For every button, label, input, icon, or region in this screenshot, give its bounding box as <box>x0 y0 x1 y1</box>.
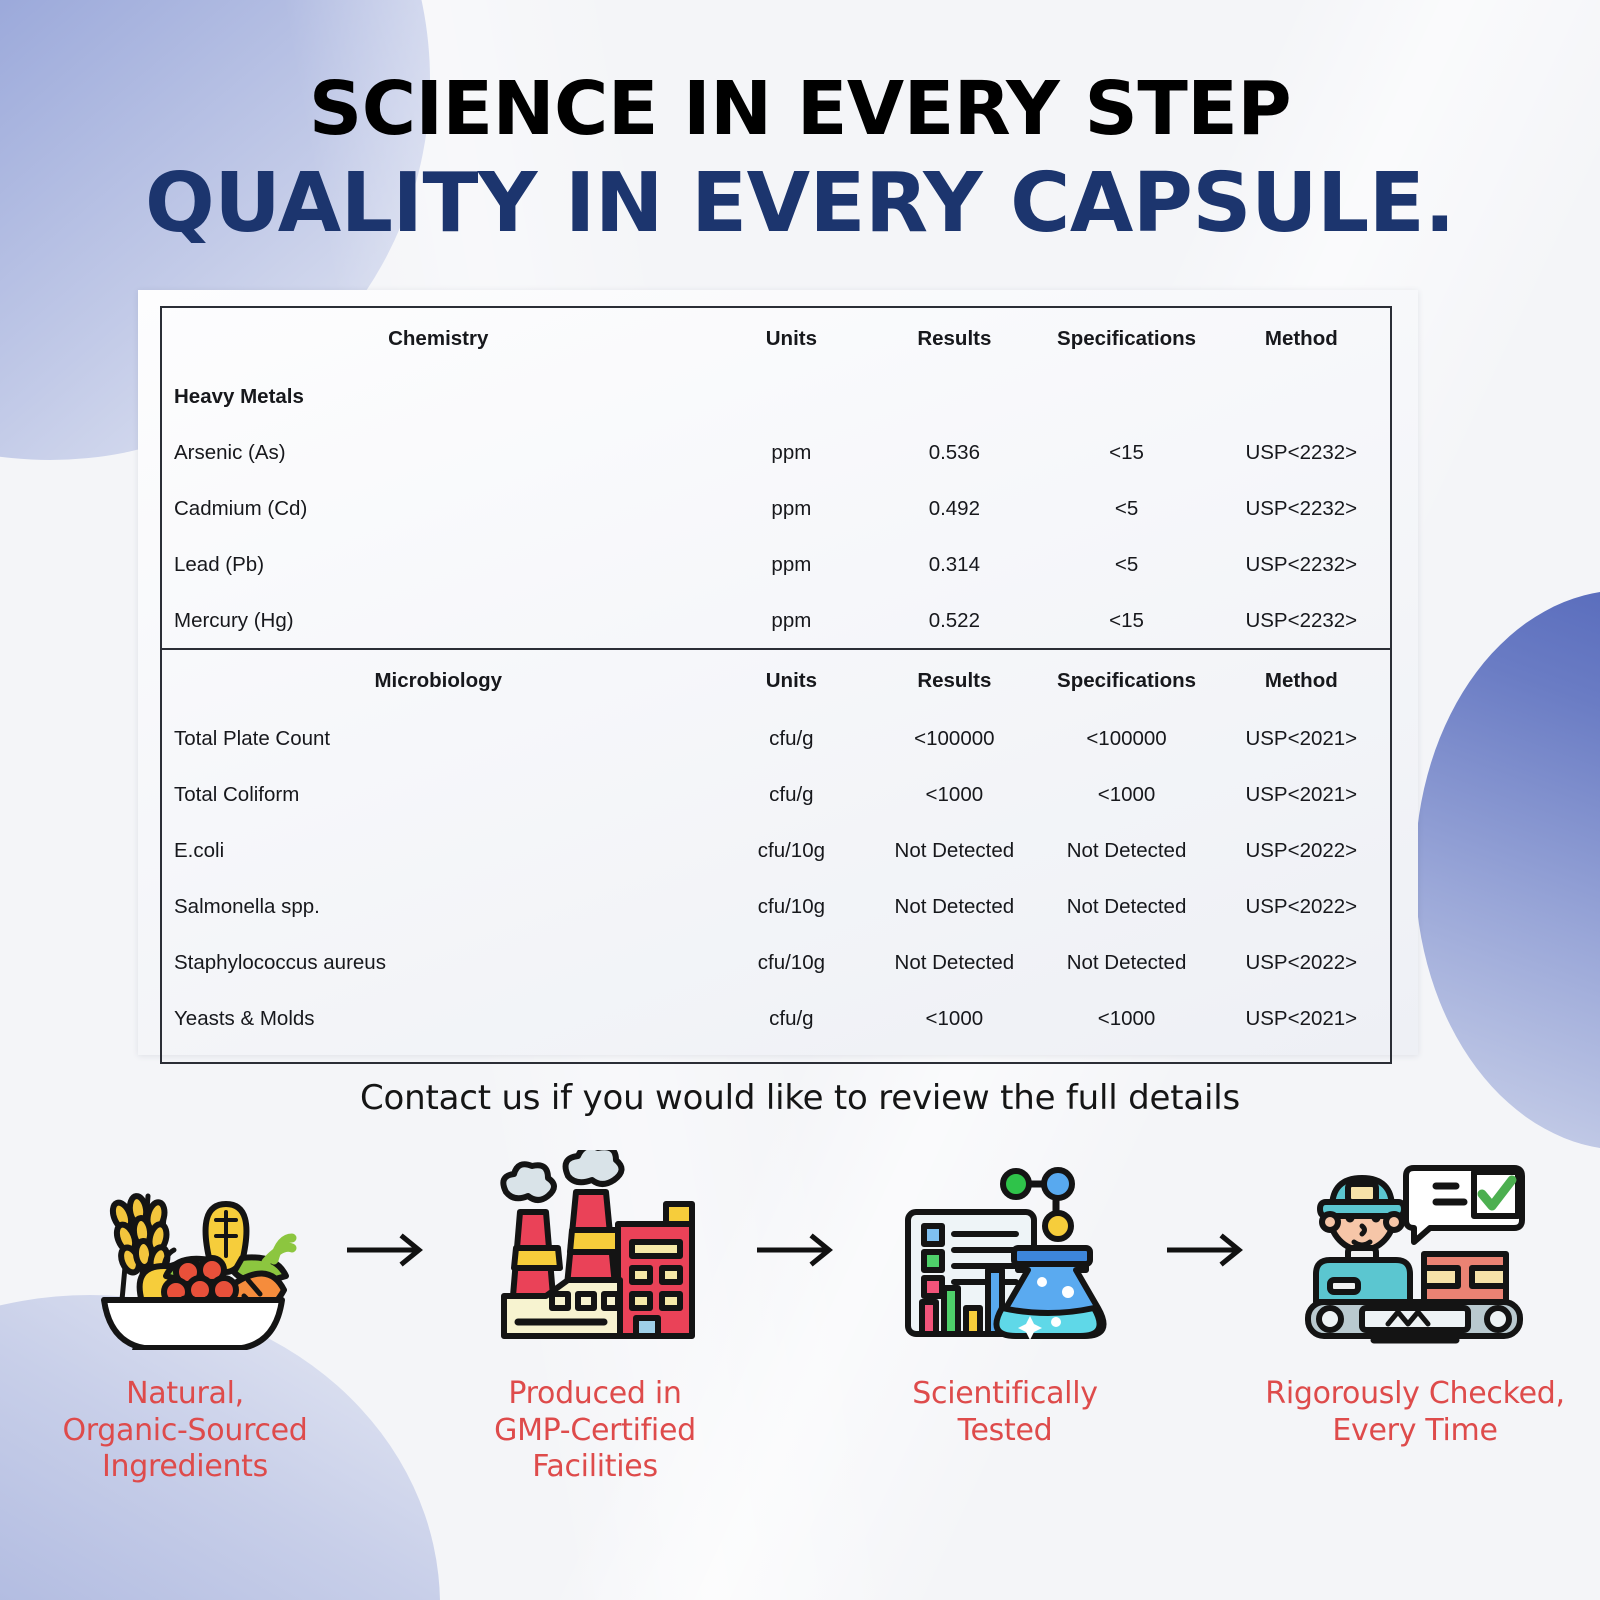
row-specs: <5 <box>1040 481 1212 537</box>
row-units: ppm <box>715 481 869 537</box>
group-label-row-heavy-metals: Heavy Metals <box>161 369 1391 425</box>
row-results: Not Detected <box>868 879 1040 935</box>
row-results: 0.314 <box>868 537 1040 593</box>
headline-line-1: SCIENCE IN EVERY STEP <box>0 72 1600 146</box>
process-arrow-3 <box>1155 1150 1265 1350</box>
process-step-label: Produced in GMP-Certified Facilities <box>494 1376 696 1486</box>
process-arrow-2 <box>745 1150 855 1350</box>
group-blank-units <box>715 369 869 425</box>
process-step-scientifically-tested: Scientifically Tested <box>855 1150 1155 1449</box>
header-microbiology: Microbiology <box>161 649 715 711</box>
row-specs: <15 <box>1040 425 1212 481</box>
row-units: cfu/g <box>715 991 869 1047</box>
row-units: ppm <box>715 593 869 649</box>
header-method: Method <box>1213 307 1391 369</box>
certificate-of-analysis-table: Chemistry Units Results Specifications M… <box>160 306 1392 1064</box>
process-step-natural-ingredients: Natural, Organic-Sourced Ingredients <box>35 1150 335 1486</box>
row-method: USP<2232> <box>1213 425 1391 481</box>
row-method: USP<2021> <box>1213 767 1391 823</box>
lab-flask-chart-icon <box>890 1150 1120 1350</box>
row-analyte: Staphylococcus aureus <box>161 935 715 991</box>
process-step-rigorously-checked: Rigorously Checked, Every Time <box>1265 1150 1565 1449</box>
row-specs: <1000 <box>1040 767 1212 823</box>
row-method: USP<2022> <box>1213 823 1391 879</box>
group-blank-method <box>1213 369 1391 425</box>
row-specs: Not Detected <box>1040 823 1212 879</box>
row-analyte: Mercury (Hg) <box>161 593 715 649</box>
row-analyte: E.coli <box>161 823 715 879</box>
process-steps-strip: Natural, Organic-Sourced Ingredients <box>0 1150 1600 1486</box>
row-results: Not Detected <box>868 823 1040 879</box>
process-step-label: Scientifically Tested <box>912 1376 1097 1449</box>
row-method: USP<2232> <box>1213 593 1391 649</box>
contact-note: Contact us if you would like to review t… <box>0 1078 1600 1118</box>
row-units: cfu/g <box>715 711 869 767</box>
header-units: Units <box>715 649 869 711</box>
row-specs: <15 <box>1040 593 1212 649</box>
row-method: USP<2021> <box>1213 711 1391 767</box>
table-row: Salmonella spp. cfu/10g Not Detected Not… <box>161 879 1391 935</box>
process-step-gmp-facility: Produced in GMP-Certified Facilities <box>445 1150 745 1486</box>
row-method: USP<2022> <box>1213 879 1391 935</box>
arrow-right-icon <box>347 1233 433 1267</box>
row-units: cfu/10g <box>715 935 869 991</box>
fruit-bowl-icon <box>70 1150 300 1350</box>
row-results: 0.522 <box>868 593 1040 649</box>
row-method: USP<2232> <box>1213 537 1391 593</box>
row-results: 0.536 <box>868 425 1040 481</box>
table-row: Yeasts & Molds cfu/g <1000 <1000 USP<202… <box>161 991 1391 1047</box>
header-method: Method <box>1213 649 1391 711</box>
row-method: USP<2232> <box>1213 481 1391 537</box>
row-analyte: Salmonella spp. <box>161 879 715 935</box>
row-results: <100000 <box>868 711 1040 767</box>
arrow-right-icon <box>757 1233 843 1267</box>
row-results: <1000 <box>868 991 1040 1047</box>
row-specs: <100000 <box>1040 711 1212 767</box>
row-results: 0.492 <box>868 481 1040 537</box>
group-blank-specs <box>1040 369 1212 425</box>
header-units: Units <box>715 307 869 369</box>
row-method: USP<2021> <box>1213 991 1391 1047</box>
row-specs: <5 <box>1040 537 1212 593</box>
header-specs: Specifications <box>1040 649 1212 711</box>
header-results: Results <box>868 649 1040 711</box>
header-results: Results <box>868 307 1040 369</box>
table-row: Lead (Pb) ppm 0.314 <5 USP<2232> <box>161 537 1391 593</box>
header-chemistry: Chemistry <box>161 307 715 369</box>
table-bottom-spacer <box>161 1047 1391 1063</box>
microbiology-header-row: Microbiology Units Results Specification… <box>161 649 1391 711</box>
row-method: USP<2022> <box>1213 935 1391 991</box>
row-results: Not Detected <box>868 935 1040 991</box>
row-specs: Not Detected <box>1040 879 1212 935</box>
process-step-label: Rigorously Checked, Every Time <box>1265 1376 1564 1449</box>
row-specs: <1000 <box>1040 991 1212 1047</box>
header-specs: Specifications <box>1040 307 1212 369</box>
group-blank-results <box>868 369 1040 425</box>
process-arrow-1 <box>335 1150 445 1350</box>
factory-icon <box>480 1150 710 1350</box>
row-results: <1000 <box>868 767 1040 823</box>
table-row: Arsenic (As) ppm 0.536 <15 USP<2232> <box>161 425 1391 481</box>
process-step-label: Natural, Organic-Sourced Ingredients <box>62 1376 307 1486</box>
row-analyte: Arsenic (As) <box>161 425 715 481</box>
row-analyte: Cadmium (Cd) <box>161 481 715 537</box>
worker-conveyor-icon <box>1300 1150 1530 1350</box>
row-units: cfu/10g <box>715 823 869 879</box>
table-row: Total Plate Count cfu/g <100000 <100000 … <box>161 711 1391 767</box>
table-row: Total Coliform cfu/g <1000 <1000 USP<202… <box>161 767 1391 823</box>
poster-canvas: SCIENCE IN EVERY STEP QUALITY IN EVERY C… <box>0 0 1600 1600</box>
row-analyte: Total Coliform <box>161 767 715 823</box>
row-analyte: Total Plate Count <box>161 711 715 767</box>
row-specs: Not Detected <box>1040 935 1212 991</box>
row-units: ppm <box>715 537 869 593</box>
arrow-right-icon <box>1167 1233 1253 1267</box>
group-label-heavy-metals: Heavy Metals <box>161 369 715 425</box>
headline-block: SCIENCE IN EVERY STEP QUALITY IN EVERY C… <box>0 72 1600 249</box>
decorative-blob-right <box>1415 590 1600 1150</box>
row-analyte: Lead (Pb) <box>161 537 715 593</box>
lab-report-card: Chemistry Units Results Specifications M… <box>138 290 1418 1055</box>
table-row: Mercury (Hg) ppm 0.522 <15 USP<2232> <box>161 593 1391 649</box>
row-analyte: Yeasts & Molds <box>161 991 715 1047</box>
row-units: cfu/10g <box>715 879 869 935</box>
row-units: ppm <box>715 425 869 481</box>
headline-line-2: QUALITY IN EVERY CAPSULE. <box>0 160 1600 249</box>
table-row: E.coli cfu/10g Not Detected Not Detected… <box>161 823 1391 879</box>
table-row: Cadmium (Cd) ppm 0.492 <5 USP<2232> <box>161 481 1391 537</box>
table-row: Staphylococcus aureus cfu/10g Not Detect… <box>161 935 1391 991</box>
row-units: cfu/g <box>715 767 869 823</box>
chemistry-header-row: Chemistry Units Results Specifications M… <box>161 307 1391 369</box>
